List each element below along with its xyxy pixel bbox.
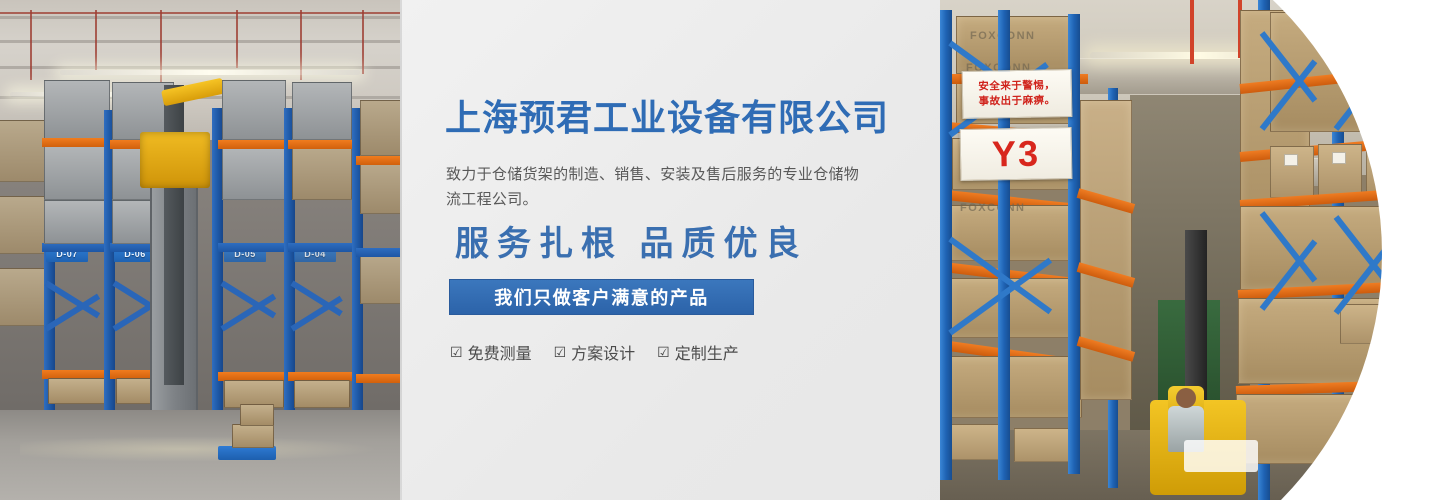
- box-label: [1332, 152, 1346, 164]
- carton: [232, 424, 274, 448]
- sprinkler-main: [0, 12, 400, 14]
- ceiling-beam: [0, 16, 400, 19]
- rack-upright: [940, 10, 952, 480]
- pallet-load: [360, 100, 400, 156]
- blue-pallet: [218, 446, 276, 460]
- sprinkler-drop: [362, 10, 364, 74]
- hero-banner: D-07 D-06: [0, 0, 1440, 500]
- rack-beam: [356, 156, 400, 165]
- feature-label: 定制生产: [675, 340, 739, 364]
- ceiling-light: [60, 70, 360, 75]
- pallet-load: [360, 162, 400, 214]
- left-photo-divider: [400, 0, 402, 500]
- check-icon: ☑: [450, 345, 463, 359]
- feature-item-custom-production[interactable]: ☑ 定制生产: [657, 340, 739, 364]
- pallet-load: [0, 196, 48, 254]
- vna-cab: [140, 132, 210, 188]
- pallet-load: [44, 200, 110, 244]
- pallet-load: [44, 80, 110, 140]
- rack-beam: [218, 140, 288, 149]
- feature-label: 方案设计: [571, 340, 635, 364]
- banner-content: 上海预君工业设备有限公司 致力于仓储货架的制造、销售、安装及售后服务的专业仓储物…: [445, 0, 915, 500]
- rack-beam: [356, 374, 400, 383]
- pallet-load: [0, 120, 48, 182]
- pallet-load: [222, 80, 286, 140]
- aisle-marker-sign-far: Y3: [1380, 120, 1440, 174]
- feature-list: ☑ 免费测量 ☑ 方案设计 ☑ 定制生产: [450, 340, 739, 364]
- carton: [1014, 428, 1070, 462]
- check-icon: ☑: [554, 345, 567, 359]
- rack-beam: [356, 248, 400, 257]
- sprinkler-pipe: [1190, 0, 1194, 64]
- floor-light-reflection: [20, 436, 380, 462]
- rack-beam: [218, 243, 290, 252]
- pallet-load: [44, 144, 110, 200]
- warehouse-photo-right: FOXCONN FOXCONN FOXCONN FOXCONN 安全来于警惕， …: [940, 0, 1440, 500]
- pallet-load: [292, 82, 352, 140]
- feature-item-free-measure[interactable]: ☑ 免费测量: [450, 340, 532, 364]
- feature-item-plan-design[interactable]: ☑ 方案设计: [554, 340, 636, 364]
- forklift-panel: [1184, 440, 1258, 472]
- warehouse-photo-left: D-07 D-06: [0, 0, 400, 500]
- ceiling-beam: [0, 40, 400, 43]
- safety-sign-line2: 事故出于麻痹。: [979, 93, 1056, 110]
- company-title: 上海预君工业设备有限公司: [445, 100, 889, 136]
- pallet-load: [946, 356, 1082, 418]
- company-slogan: 服务扎根 品质优良: [455, 228, 808, 262]
- pallet-load: [360, 252, 400, 304]
- safety-warning-sign: 安全来于警惕， 事故出于麻痹。: [962, 69, 1073, 119]
- sprinkler-drop: [95, 10, 97, 70]
- rack-beam: [288, 243, 356, 252]
- carton: [1388, 302, 1430, 342]
- carton: [1340, 304, 1382, 344]
- aisle-marker-far-label: Y3: [1400, 128, 1440, 166]
- pallet-load: [0, 268, 48, 326]
- brand-text: FOXCONN: [960, 202, 1026, 214]
- pallet-load-row: [1236, 394, 1440, 464]
- forklift-driver-head: [1176, 388, 1196, 408]
- pallet-load: [292, 146, 352, 200]
- feature-label: 免费测量: [468, 340, 532, 364]
- rack-beam: [42, 138, 112, 147]
- aisle-marker-sign: Y3: [960, 127, 1073, 181]
- sprinkler-drop: [236, 10, 238, 68]
- aisle-marker-label: Y3: [992, 136, 1041, 173]
- carton: [240, 404, 274, 426]
- carton: [294, 380, 350, 408]
- ceiling-beam: [0, 66, 400, 69]
- safety-sign-line1: 安全来于警惕，: [978, 78, 1055, 95]
- promise-badge[interactable]: 我们只做客户满意的产品: [449, 279, 754, 315]
- box-label: [1284, 154, 1298, 166]
- company-subtitle: 致力于仓储货架的制造、销售、安装及售后服务的专业仓储物流工程公司。: [446, 163, 866, 213]
- check-icon: ☑: [657, 345, 670, 359]
- carton: [48, 378, 106, 404]
- vna-mast: [164, 85, 184, 385]
- sprinkler-drop: [30, 10, 32, 80]
- pallet-load: [222, 146, 286, 200]
- promise-badge-label: 我们只做客户满意的产品: [494, 284, 709, 310]
- rack-beam: [288, 140, 354, 149]
